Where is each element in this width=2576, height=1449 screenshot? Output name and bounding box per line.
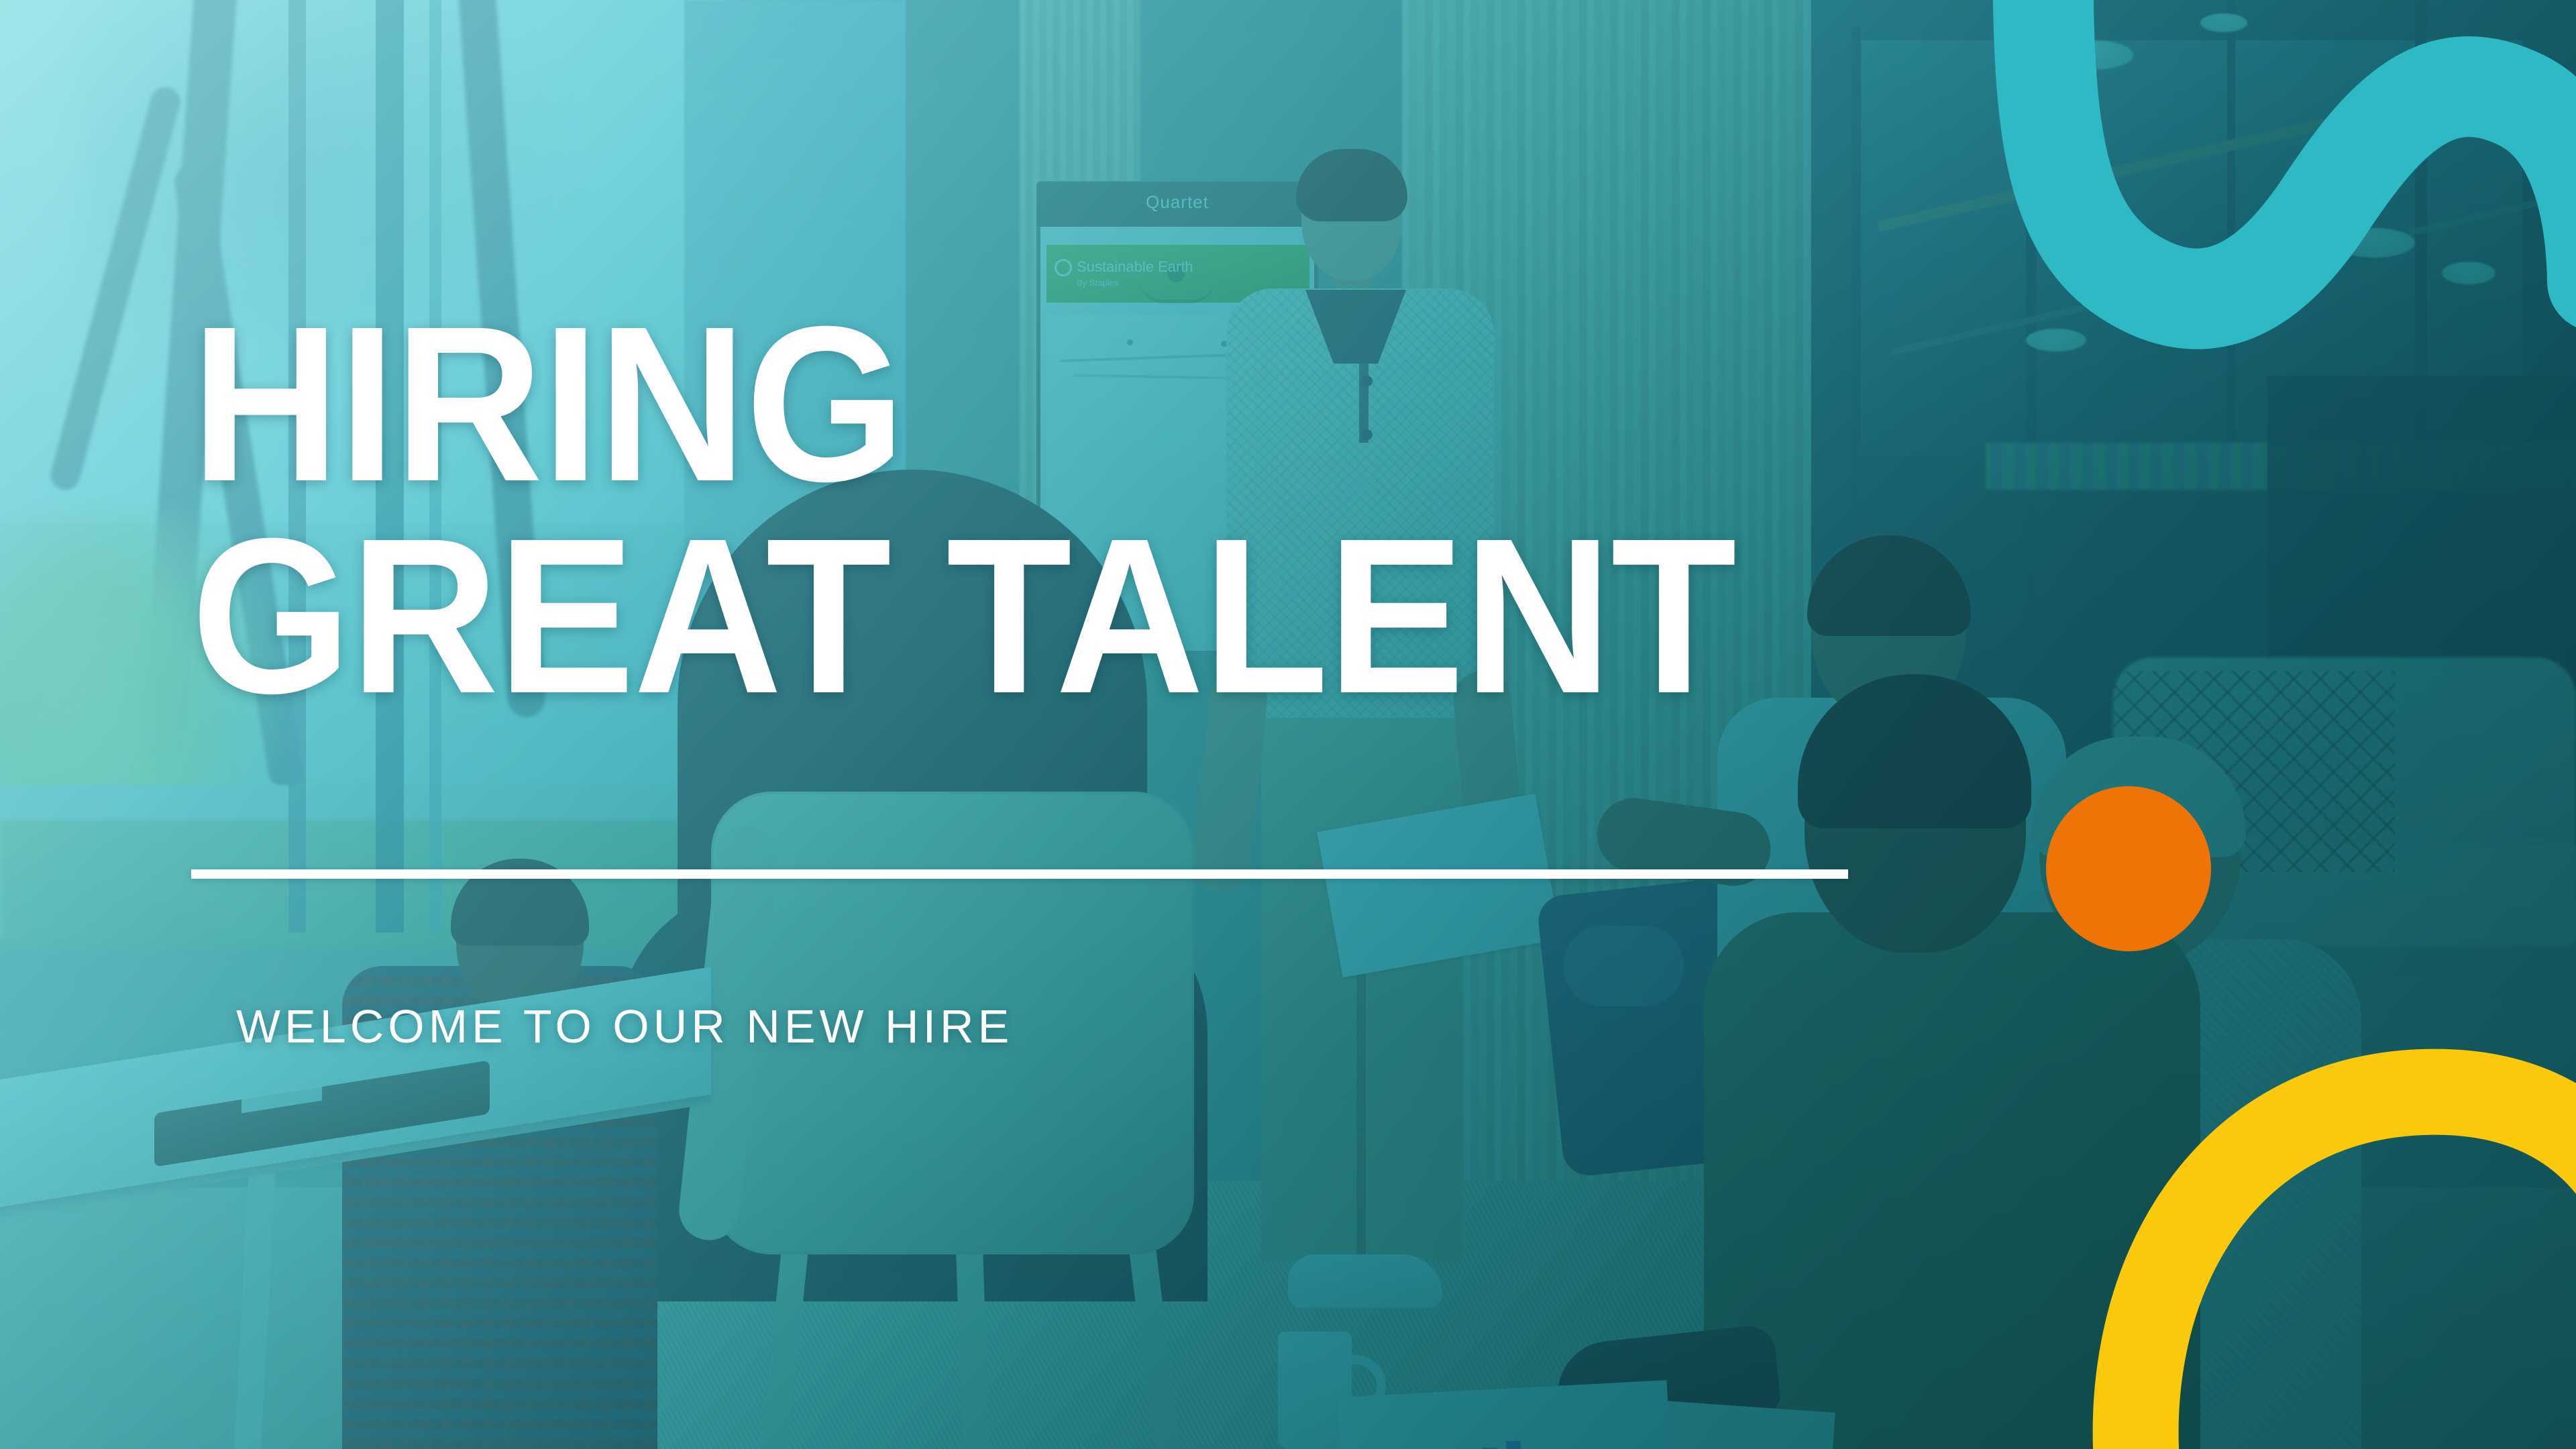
hiring-poster: Quartet Sustainable Earth By Staples: [0, 0, 2576, 1449]
headline-line-2: GREAT TALENT: [191, 527, 1813, 704]
poster-subtitle: WELCOME TO OUR NEW HIRE: [236, 1000, 1013, 1053]
headline-line-1: HIRING: [191, 315, 1813, 492]
divider-rule: [191, 869, 1848, 879]
poster-copy: HIRING GREAT TALENT: [191, 315, 1935, 704]
